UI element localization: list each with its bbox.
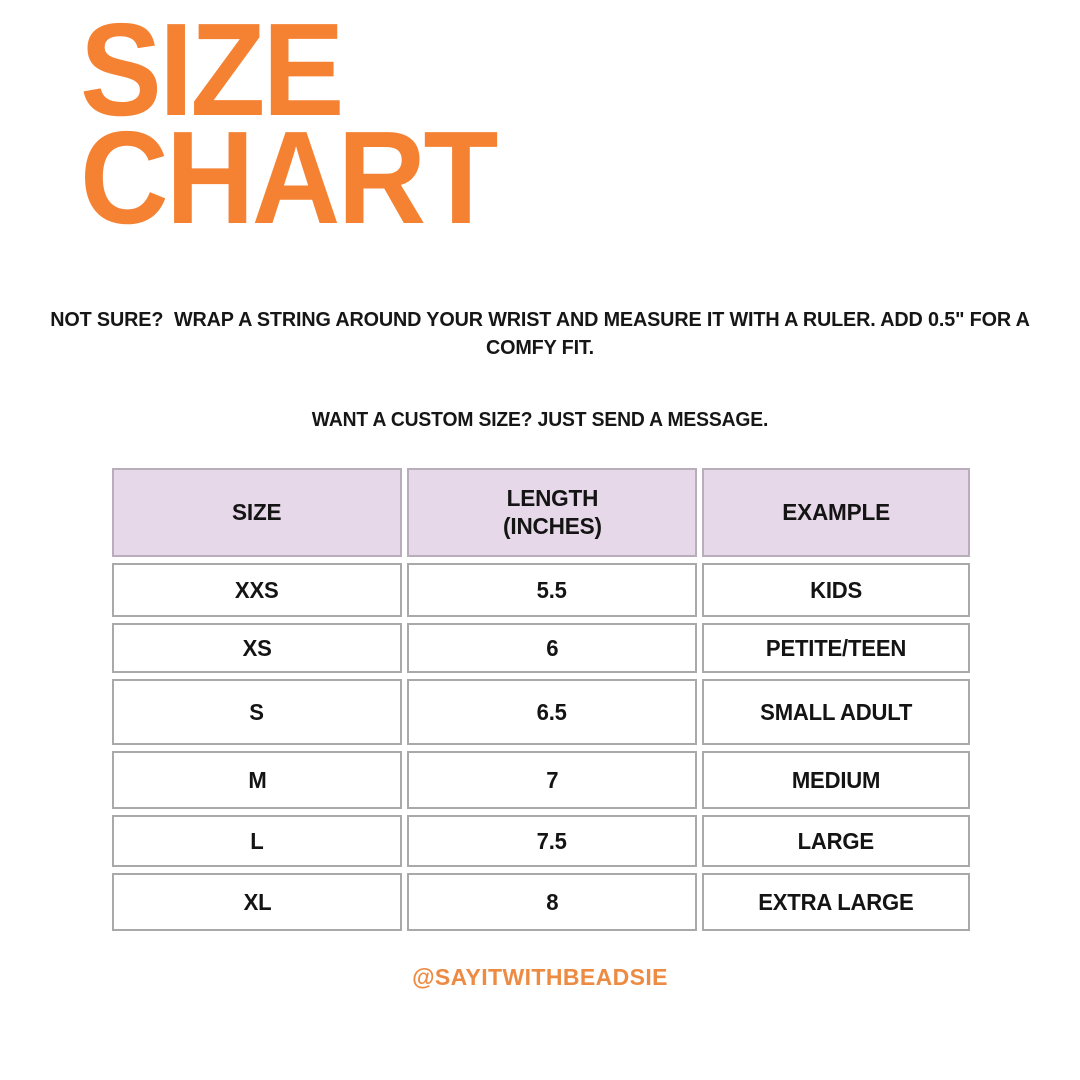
cell-example: SMALL ADULT: [702, 679, 970, 745]
table-row: M 7 MEDIUM: [112, 751, 970, 809]
column-header-size: SIZE: [112, 468, 402, 557]
cell-example: EXTRA LARGE: [702, 873, 970, 931]
intro-text-block: NOT SURE? WRAP A STRING AROUND YOUR WRIS…: [0, 306, 1080, 434]
page-title: SIZE CHART: [80, 16, 980, 232]
cell-example: MEDIUM: [702, 751, 970, 809]
cell-size: XXS: [112, 563, 402, 617]
cell-length: 7: [407, 751, 697, 809]
measuring-instructions: NOT SURE? WRAP A STRING AROUND YOUR WRIS…: [27, 306, 1054, 363]
cell-length: 7.5: [407, 815, 697, 867]
cell-size: L: [112, 815, 402, 867]
cell-size: S: [112, 679, 402, 745]
table-row: S 6.5 SMALL ADULT: [112, 679, 970, 745]
cell-length: 8: [407, 873, 697, 931]
table-row: L 7.5 LARGE: [112, 815, 970, 867]
cell-example: LARGE: [702, 815, 970, 867]
column-header-length: LENGTH (INCHES): [407, 468, 697, 557]
cell-example: KIDS: [702, 563, 970, 617]
cell-size: XL: [112, 873, 402, 931]
cell-length: 5.5: [407, 563, 697, 617]
table-header-row: SIZE LENGTH (INCHES) EXAMPLE: [112, 468, 970, 557]
size-chart-table: SIZE LENGTH (INCHES) EXAMPLE XXS 5.5 KID…: [112, 468, 970, 937]
table-row: XL 8 EXTRA LARGE: [112, 873, 970, 931]
table-row: XS 6 PETITE/TEEN: [112, 623, 970, 673]
table-row: XXS 5.5 KIDS: [112, 563, 970, 617]
title-line-chart: CHART: [80, 124, 917, 232]
cell-size: XS: [112, 623, 402, 673]
cell-example: PETITE/TEEN: [702, 623, 970, 673]
cell-size: M: [112, 751, 402, 809]
column-header-example: EXAMPLE: [702, 468, 970, 557]
cell-length: 6.5: [407, 679, 697, 745]
social-handle: @SAYITWITHBEADSIE: [0, 964, 1080, 991]
custom-size-note: WANT A CUSTOM SIZE? JUST SEND A MESSAGE.: [27, 407, 1054, 435]
cell-length: 6: [407, 623, 697, 673]
